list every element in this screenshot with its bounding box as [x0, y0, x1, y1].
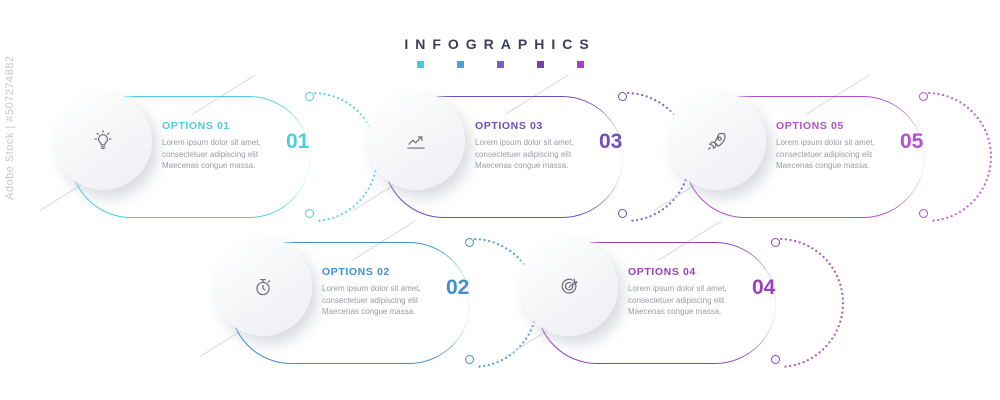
- growth-chart-icon: [403, 128, 429, 154]
- item-description: Lorem ipsum dolor sit amet, consectetuer…: [475, 137, 595, 172]
- square-marker-4: [537, 61, 544, 68]
- item-label: OPTIONS 02: [322, 266, 442, 278]
- square-marker-2: [457, 61, 464, 68]
- item-text-block: OPTIONS 01 Lorem ipsum dolor sit amet, c…: [162, 120, 282, 172]
- item-number: 01: [286, 130, 309, 154]
- capsule-end-dot-top: [465, 238, 474, 247]
- item-label: OPTIONS 03: [475, 120, 595, 132]
- item-description: Lorem ipsum dolor sit amet, consectetuer…: [628, 283, 748, 318]
- infographic-item-5[interactable]: OPTIONS 05 Lorem ipsum dolor sit amet, c…: [676, 92, 976, 227]
- page-title: INFOGRAPHICS: [0, 36, 1000, 52]
- square-marker-1: [417, 61, 424, 68]
- capsule-end-dot-bottom: [305, 209, 314, 218]
- icon-circle[interactable]: [668, 92, 766, 190]
- square-marker-3: [497, 61, 504, 68]
- infographic-header: INFOGRAPHICS: [0, 36, 1000, 68]
- infographic-item-1[interactable]: OPTIONS 01 Lorem ipsum dolor sit amet, c…: [62, 92, 362, 227]
- item-label: OPTIONS 04: [628, 266, 748, 278]
- idea-bulb-icon: [90, 128, 116, 154]
- item-number: 04: [752, 276, 775, 300]
- item-text-block: OPTIONS 05 Lorem ipsum dolor sit amet, c…: [776, 120, 896, 172]
- icon-circle[interactable]: [520, 238, 618, 336]
- title-square-markers: [0, 61, 1000, 68]
- rocket-icon: [704, 128, 730, 154]
- item-label: OPTIONS 01: [162, 120, 282, 132]
- capsule-end-dot-bottom: [919, 209, 928, 218]
- infographic-item-4[interactable]: OPTIONS 04 Lorem ipsum dolor sit amet, c…: [528, 238, 828, 373]
- item-number: 05: [900, 130, 923, 154]
- dotted-arc: [911, 92, 1000, 222]
- capsule-end-dot-bottom: [618, 209, 627, 218]
- square-marker-5: [577, 61, 584, 68]
- item-text-block: OPTIONS 03 Lorem ipsum dolor sit amet, c…: [475, 120, 595, 172]
- item-description: Lorem ipsum dolor sit amet, consectetuer…: [322, 283, 442, 318]
- capsule-end-dot-bottom: [465, 355, 474, 364]
- target-arrow-icon: [556, 274, 582, 300]
- capsule-end-dot-bottom: [771, 355, 780, 364]
- dotted-arc: [763, 238, 873, 368]
- capsule-end-dot-top: [771, 238, 780, 247]
- item-label: OPTIONS 05: [776, 120, 896, 132]
- icon-circle[interactable]: [214, 238, 312, 336]
- capsule-end-dot-top: [618, 92, 627, 101]
- item-number: 02: [446, 276, 469, 300]
- infographic-item-3[interactable]: OPTIONS 03 Lorem ipsum dolor sit amet, c…: [375, 92, 675, 227]
- stock-watermark: Adobe Stock | #507274882: [4, 55, 16, 200]
- infographic-item-2[interactable]: OPTIONS 02 Lorem ipsum dolor sit amet, c…: [222, 238, 522, 373]
- capsule-end-dot-top: [305, 92, 314, 101]
- icon-circle[interactable]: [367, 92, 465, 190]
- icon-circle[interactable]: [54, 92, 152, 190]
- item-text-block: OPTIONS 04 Lorem ipsum dolor sit amet, c…: [628, 266, 748, 318]
- item-text-block: OPTIONS 02 Lorem ipsum dolor sit amet, c…: [322, 266, 442, 318]
- item-description: Lorem ipsum dolor sit amet, consectetuer…: [776, 137, 896, 172]
- capsule-end-dot-top: [919, 92, 928, 101]
- stopwatch-icon: [250, 274, 276, 300]
- item-description: Lorem ipsum dolor sit amet, consectetuer…: [162, 137, 282, 172]
- item-number: 03: [599, 130, 622, 154]
